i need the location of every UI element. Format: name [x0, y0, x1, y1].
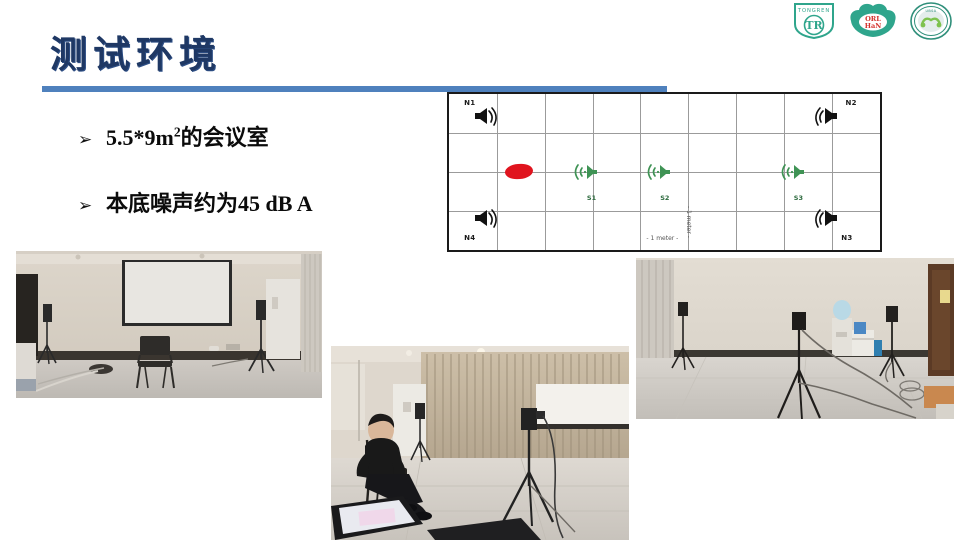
- seal-logo: UBSA: [910, 2, 952, 40]
- scale-label-horizontal: - 1 meter -: [646, 235, 678, 242]
- subject-position-marker: [505, 163, 534, 179]
- bullet-arrow-icon: ➢: [78, 130, 106, 150]
- noise-source-n1-icon: [471, 106, 501, 130]
- list-item: ➢ 本底噪声约为45 dB A: [78, 186, 438, 218]
- logo-bar: TONGREN TR ORL HaN UBSA: [792, 2, 952, 40]
- page-title: 测试环境: [50, 36, 222, 73]
- speaker-s1-icon: [570, 160, 600, 184]
- noise-source-n4-label: N4: [464, 234, 475, 242]
- speaker-s3-icon: [777, 160, 807, 184]
- slide-root: TONGREN TR ORL HaN UBSA: [0, 0, 960, 540]
- speaker-s2-label: S2: [660, 194, 669, 202]
- bullet-superscript: 2: [174, 125, 181, 140]
- room-layout-diagram: N1 N2 N3 N4: [447, 92, 882, 252]
- noise-source-n1-label: N1: [464, 99, 475, 107]
- bullet-list: ➢ 5.5*9m2的会议室 ➢ 本底噪声约为45 dB A: [78, 120, 438, 252]
- noise-source-n3-label: N3: [841, 234, 852, 242]
- bullet-text-main: 本底噪声约为45 dB A: [106, 191, 313, 216]
- tongren-logo-monogram: TR: [805, 19, 823, 32]
- orlhan-logo-text-bottom: HaN: [865, 22, 882, 30]
- scale-label-vertical: - 1 meter -: [685, 206, 692, 238]
- bullet-text: 本底噪声约为45 dB A: [106, 186, 313, 218]
- list-item: ➢ 5.5*9m2的会议室: [78, 120, 438, 152]
- noise-source-n4-icon: [471, 208, 501, 232]
- noise-source-n2-label: N2: [846, 99, 857, 107]
- tongren-logo: TONGREN TR: [792, 2, 836, 40]
- photo-three-speakers: [636, 258, 954, 419]
- noise-source-n2-icon: [811, 106, 841, 130]
- seal-logo-text: UBSA: [926, 9, 937, 13]
- bullet-text-main: 5.5*9m: [106, 125, 174, 150]
- grid-line-horizontal: [449, 133, 880, 134]
- orlhan-logo: ORL HaN: [848, 3, 898, 39]
- speaker-s2-icon: [643, 160, 673, 184]
- tongren-logo-text: TONGREN: [797, 8, 830, 14]
- bullet-text-tail: 的会议室: [181, 125, 269, 150]
- bullet-text: 5.5*9m2的会议室: [106, 120, 269, 152]
- photo-seated-subject: [331, 346, 629, 540]
- photo-meeting-room-screen: [16, 251, 322, 398]
- bullet-arrow-icon: ➢: [78, 196, 106, 216]
- speaker-s1-label: S1: [587, 194, 596, 202]
- noise-source-n3-icon: [811, 208, 841, 232]
- speaker-s3-label: S3: [794, 194, 803, 202]
